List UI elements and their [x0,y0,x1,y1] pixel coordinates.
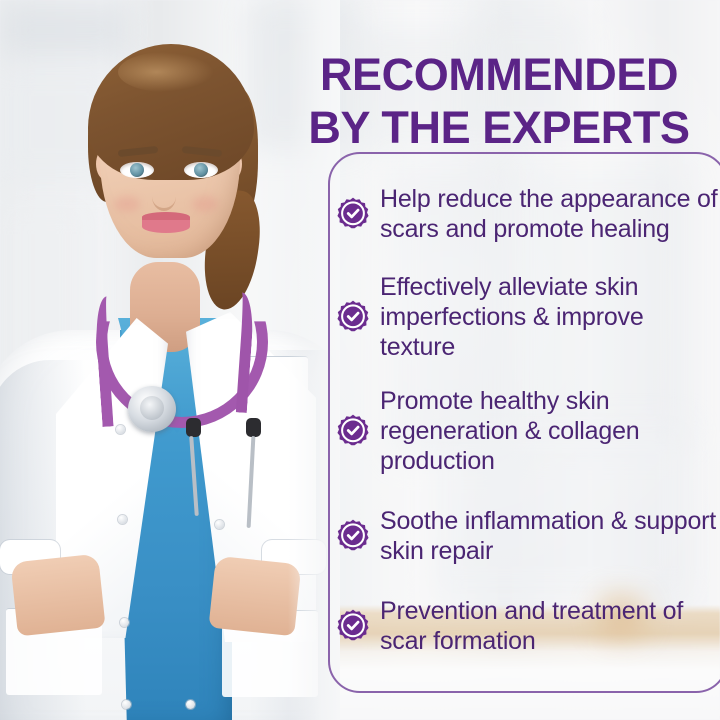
list-item: Help reduce the appearance of scars and … [336,184,720,244]
coat-button [122,700,131,709]
list-item: Promote healthy skin regeneration & coll… [336,386,720,476]
list-item: Prevention and treatment of scar formati… [336,596,720,656]
hand-left [10,554,105,637]
list-item: Effectively alleviate skin imperfections… [336,272,720,362]
stethoscope-connector [246,418,261,437]
cheek-blush [114,196,140,212]
coat-button [186,700,195,709]
benefit-text: Soothe inflammation & support skin repai… [380,506,720,566]
doctor-photo [0,0,340,720]
headline-line-2: BY THE EXPERTS [290,101,708,154]
benefit-text: Effectively alleviate skin imperfections… [380,272,720,362]
lower-lip [142,220,190,233]
headline-line-1: RECOMMENDED [320,49,678,100]
promo-poster: RECOMMENDED BY THE EXPERTS Help reduce t… [0,0,720,720]
check-badge-icon [336,300,370,334]
benefit-text: Promote healthy skin regeneration & coll… [380,386,720,476]
cheek-blush [192,196,218,212]
coat-button [118,515,127,524]
nose [152,182,176,211]
check-badge-icon [336,519,370,553]
benefit-text: Help reduce the appearance of scars and … [380,184,720,244]
stethoscope-connector [186,418,201,437]
iris [194,163,208,177]
check-badge-icon [336,197,370,231]
coat-button [215,520,224,529]
benefit-text: Prevention and treatment of scar formati… [380,596,720,656]
check-badge-icon [336,414,370,448]
page-title: RECOMMENDED BY THE EXPERTS [290,48,708,154]
hair-highlight [118,52,214,92]
stethoscope-diaphragm [140,396,164,420]
check-badge-icon [336,609,370,643]
benefits-list: Help reduce the appearance of scars and … [336,166,720,656]
coat-button [120,618,129,627]
coat-button [116,425,125,434]
iris [130,163,144,177]
list-item: Soothe inflammation & support skin repai… [336,506,720,566]
